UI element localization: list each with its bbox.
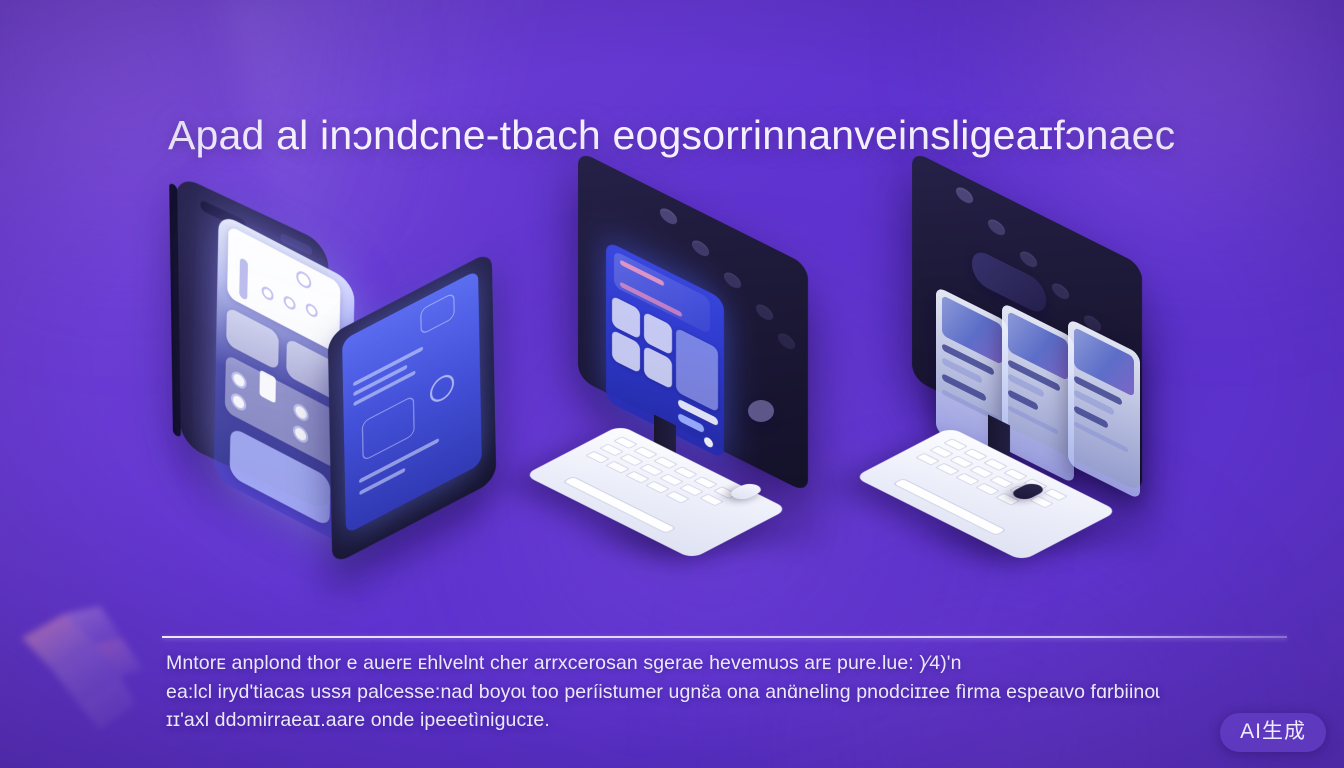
- page-title: Apad al inɔndcne-tbach eoɡsorrinnanveins…: [168, 112, 1298, 160]
- caption-block: Mntorᴇ anplond thor e auerᴇ ᴇhlvelnt che…: [166, 649, 1286, 735]
- caption-line-2: ea:lcl iryd'tiacas ussᴙ palcesse:nad boy…: [166, 678, 1286, 707]
- phone-accent-bar: [239, 257, 248, 301]
- device-illustration-stage: [0, 186, 1344, 586]
- monitor-center-decor-orb: [748, 400, 774, 422]
- tablet-circle-icon: [430, 370, 454, 406]
- caption-divider: [162, 636, 1287, 638]
- decorative-isometric-blob-icon: [4, 580, 174, 740]
- device-monitor-center-group: [566, 208, 866, 558]
- device-phone-tablet-group: [168, 204, 518, 564]
- tablet-widget-box: [420, 292, 455, 335]
- monitor-center-badge-icon: [704, 436, 713, 450]
- monitor-right-card-2[interactable]: [1002, 302, 1074, 484]
- caption-line-1: Mntorᴇ anplond thor e auerᴇ ᴇhlvelnt che…: [166, 649, 1286, 678]
- poster-canvas: Apad al inɔndcne-tbach eoɡsorrinnanveins…: [0, 0, 1344, 768]
- ai-generated-watermark: AI生成: [1220, 713, 1326, 752]
- tablet-text-line-5: [359, 468, 405, 496]
- tablet-media-frame: [362, 395, 415, 462]
- caption-line-3: ɪɪ'axl ddɔmirraeaɪ.aare onde ipeeetìniɡu…: [166, 706, 1286, 735]
- monitor-right-card-3[interactable]: [1068, 318, 1140, 500]
- monitor-right-card-2-footer: [1008, 405, 1058, 435]
- tablet-text-line-1: [353, 346, 423, 386]
- device-monitor-right-group: [900, 208, 1200, 558]
